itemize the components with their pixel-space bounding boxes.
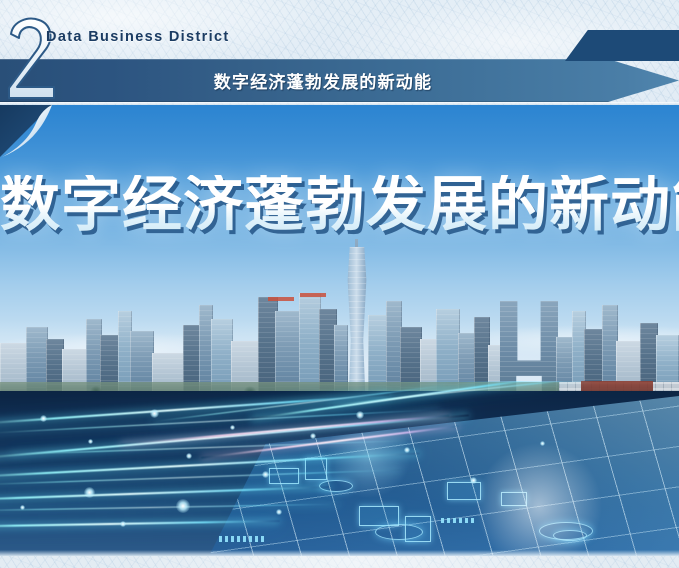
city-skyline-layer bbox=[0, 247, 679, 397]
hero-bottom-fade bbox=[0, 550, 679, 556]
banner-title-text: 数字经济蓬勃发展的新动能 bbox=[0, 59, 608, 102]
data-stream-overlay bbox=[0, 381, 679, 556]
section-banner: 数字经济蓬勃发展的新动能 bbox=[0, 59, 679, 102]
page-curl-icon bbox=[0, 105, 66, 167]
slide-canvas: Data Business District 数字经济蓬勃发展的新动能 bbox=[0, 0, 679, 568]
hero-title-text: 数字经济蓬勃发展的新动能 bbox=[0, 175, 679, 235]
tower-antenna bbox=[355, 239, 358, 247]
banner-divider bbox=[0, 102, 679, 105]
hero-image: 数字经济蓬勃发展的新动能 bbox=[0, 105, 679, 556]
section-eyebrow-label: Data Business District bbox=[46, 29, 230, 45]
